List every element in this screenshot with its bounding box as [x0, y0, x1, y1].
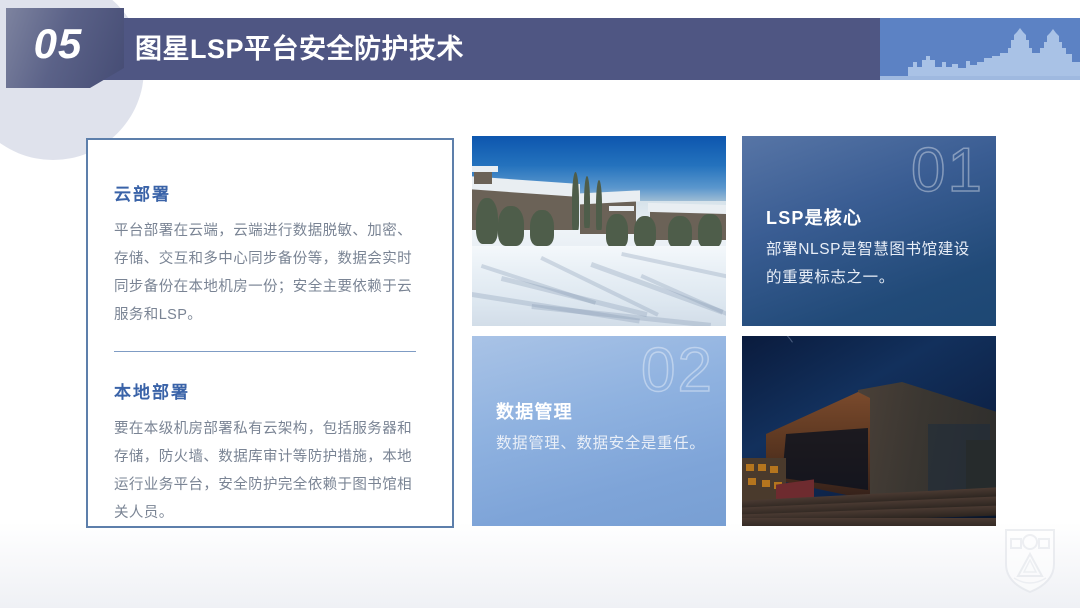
- card-heading: LSP是核心: [766, 204, 862, 230]
- card-body: 部署NLSP是智慧图书馆建设的重要标志之一。: [766, 236, 980, 292]
- university-shield-crest-icon: [1002, 526, 1058, 594]
- snow-campus-photo: [472, 136, 726, 326]
- photo-tree: [530, 210, 554, 246]
- local-deployment-block: 本地部署 要在本级机房部署私有云架构，包括服务器和存储，防火墙、数据库审计等防护…: [114, 352, 424, 527]
- photo-tree: [596, 180, 602, 230]
- photo-tree: [698, 214, 722, 248]
- section-number-label: 05: [6, 8, 110, 80]
- local-deployment-body: 要在本级机房部署私有云架构，包括服务器和存储，防火墙、数据库审计等防护措施，本地…: [114, 415, 424, 527]
- cloud-deployment-body: 平台部署在云端，云端进行数据脱敏、加密、存储、交互和多中心同步备份等，数据会实时…: [114, 217, 424, 329]
- cloud-deployment-block: 云部署 平台部署在云端，云端进行数据脱敏、加密、存储、交互和多中心同步备份等，数…: [114, 180, 424, 329]
- night-library-photo: [742, 336, 996, 526]
- photo-tree: [606, 214, 628, 248]
- photo-tree: [584, 176, 590, 228]
- page-title: 图星LSP平台安全防护技术: [135, 18, 464, 80]
- bottom-gradient-overlay: [0, 522, 1080, 608]
- section-number-badge: 05: [6, 8, 124, 88]
- photo-window-light: [746, 464, 754, 471]
- photo-tree: [634, 216, 656, 248]
- photo-roof: [472, 166, 498, 172]
- deployment-info-card: 云部署 平台部署在云端，云端进行数据脱敏、加密、存储、交互和多中心同步备份等，数…: [86, 138, 454, 528]
- cloud-deployment-heading: 云部署: [114, 180, 424, 205]
- photo-window-light: [762, 480, 770, 487]
- photo-window-light: [770, 466, 778, 473]
- photo-tree: [572, 172, 579, 230]
- photo-tree: [476, 198, 498, 244]
- slide-title-bar: 图星LSP平台安全防护技术: [100, 18, 1080, 80]
- city-skyline-icon: [880, 18, 1080, 80]
- card-body: 数据管理、数据安全是重任。: [496, 430, 710, 458]
- photo-window-light: [758, 464, 766, 471]
- local-deployment-heading: 本地部署: [114, 378, 424, 403]
- card-watermark-number: 01: [911, 140, 984, 202]
- photo-steps: [742, 518, 996, 526]
- photo-roof: [609, 206, 634, 211]
- photo-window-light: [748, 478, 756, 485]
- photo-tree: [498, 206, 524, 246]
- photo-tree: [668, 216, 692, 248]
- card-heading: 数据管理: [496, 398, 573, 424]
- slide-canvas: 图星LSP平台安全防护技术 05 云部署 平台部署在云端，云端进行数据脱敏、加密…: [0, 0, 1080, 608]
- card-watermark-number: 02: [641, 340, 714, 402]
- info-card-data-management[interactable]: 02 数据管理 数据管理、数据安全是重任。: [472, 336, 726, 526]
- info-card-lsp-core[interactable]: 01 LSP是核心 部署NLSP是智慧图书馆建设的重要标志之一。: [742, 136, 996, 326]
